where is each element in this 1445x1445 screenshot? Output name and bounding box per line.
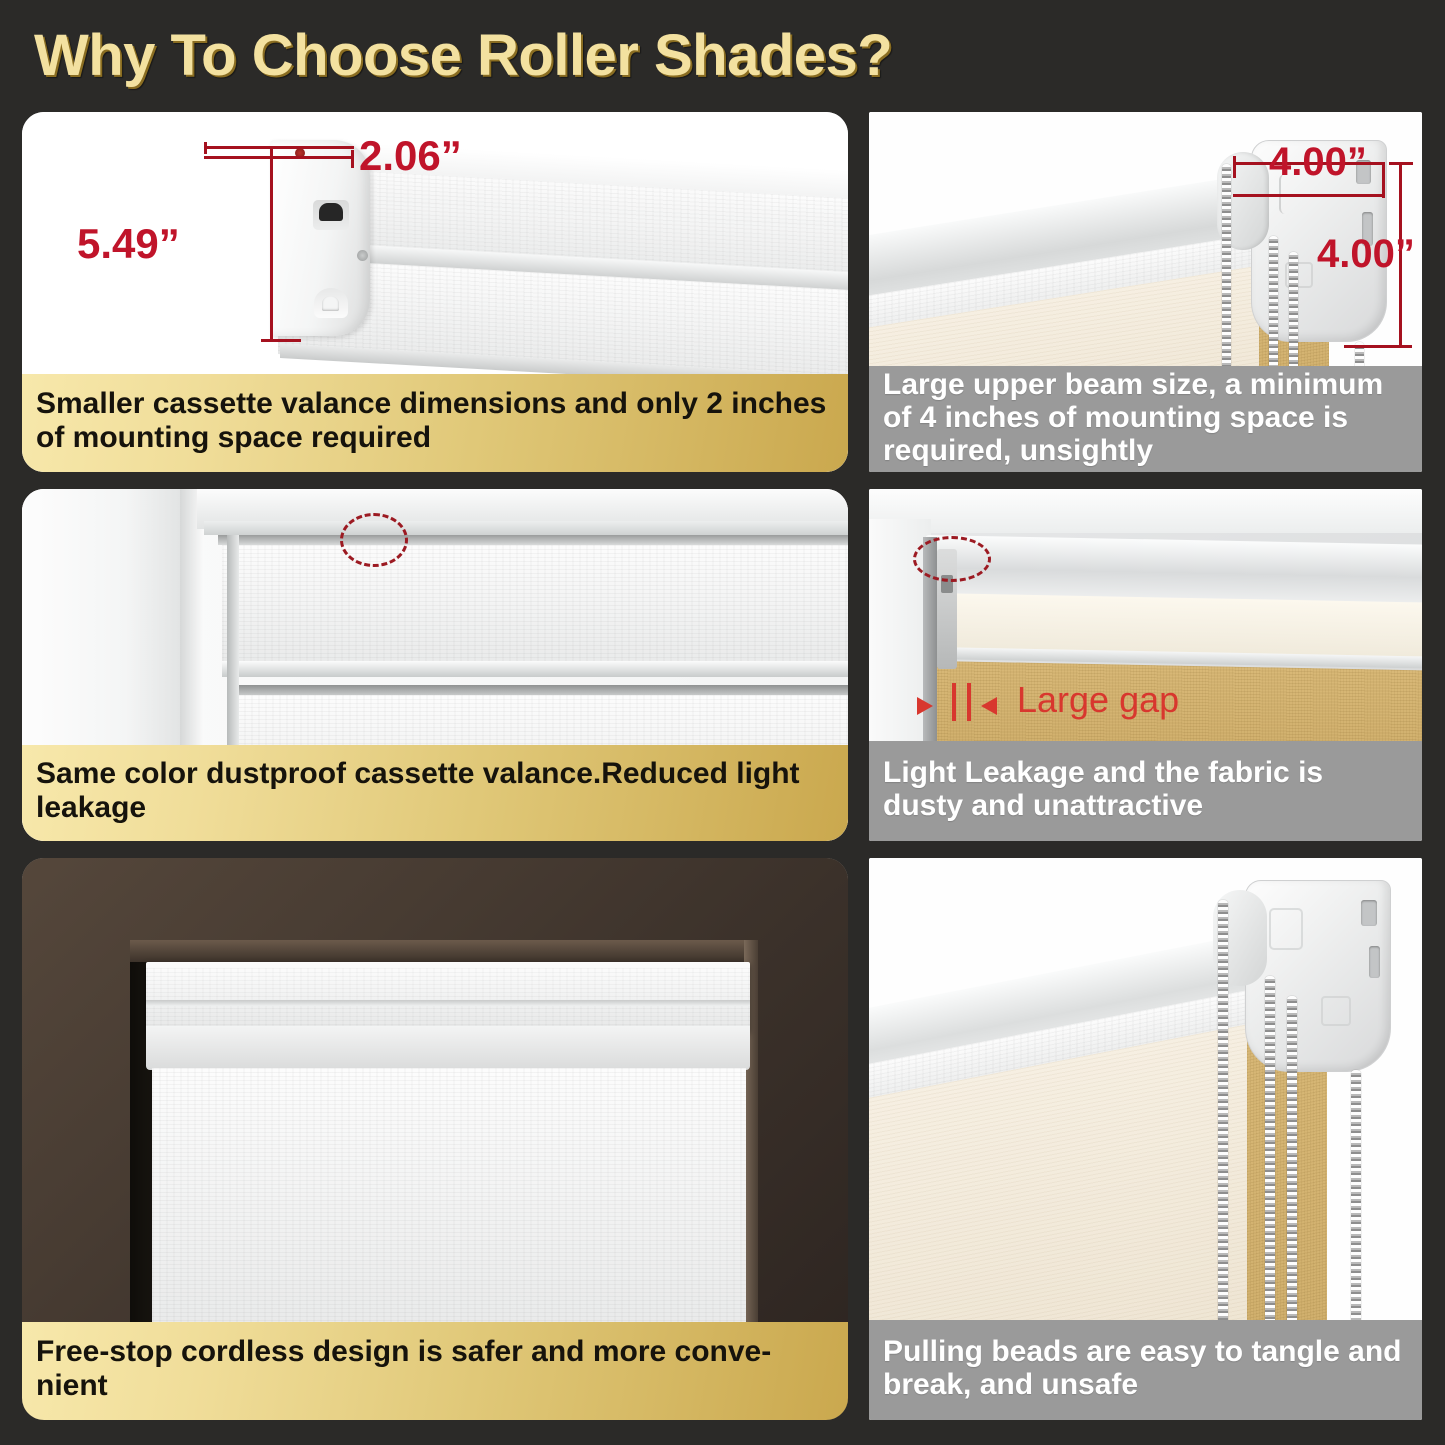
panel-1-caption: Smaller cassette valance dimensions and … [22, 374, 848, 472]
dimension-tick-top [261, 146, 289, 149]
panel-top-right: 4.00” 4.00” Large upper beam size, a min… [869, 112, 1422, 472]
dimension-label-height: 5.49” [77, 220, 180, 268]
dimension-tick-bottom2 [1344, 345, 1412, 348]
gap-tick-2a [952, 683, 956, 721]
dimension-tick-right2 [1382, 162, 1385, 198]
panel-2-caption: Large upper beam size, a minimum of 4 in… [869, 366, 1422, 472]
panel-2-caption-text: Large upper beam size, a minimum of 4 in… [883, 368, 1408, 467]
panel-4-caption-text: Light Leakage and the fabric is dusty an… [883, 756, 1408, 822]
gap-label-2: Large gap [1017, 679, 1179, 721]
dimension-tick-left2 [1233, 156, 1236, 178]
comparison-grid: 2.06” 5.49” Smaller cassette valance dim… [0, 0, 1445, 1445]
gap-tick-2b [967, 683, 971, 721]
panel-5-caption: Free-stop cordless design is safer and m… [22, 1322, 848, 1420]
panel-middle-right: Large gap Light Leakage and the fabric i… [869, 489, 1422, 841]
panel-middle-left: smaller gap Same color dustproof cassett… [22, 489, 848, 841]
highlight-circle [340, 513, 408, 567]
panel-top-left: 2.06” 5.49” Smaller cassette valance dim… [22, 112, 848, 472]
dimension-label-width: 2.06” [359, 132, 462, 180]
gap-arrow-right-2 [981, 697, 997, 715]
highlight-circle-2 [913, 536, 991, 582]
panel-3-caption: Same color dustproof cassette valance.Re… [22, 745, 848, 841]
dimension-line-top-2 [1233, 194, 1385, 197]
dimension-tick-right [351, 150, 354, 168]
panel-1-caption-text: Smaller cassette valance dimensions and … [36, 387, 834, 454]
panel-3-caption-text: Same color dustproof cassette valance.Re… [36, 757, 834, 824]
dimension-line-horizontal-2 [204, 156, 354, 159]
panel-4-caption: Light Leakage and the fabric is dusty an… [869, 741, 1422, 841]
panel-bottom-right: Pulling beads are easy to tangle and bre… [869, 858, 1422, 1420]
panel-bottom-left: Free-stop cordless design is safer and m… [22, 858, 848, 1420]
dimension-tick-left [204, 142, 207, 154]
dimension-line-vertical [270, 146, 273, 342]
panel-6-caption-text: Pulling beads are easy to tangle and bre… [883, 1335, 1408, 1401]
dimension-label-width-2: 4.00” [1269, 140, 1367, 185]
dimension-tick-bottom [261, 339, 301, 342]
dimension-tick-top2 [1389, 162, 1413, 165]
panel-5-caption-text: Free-stop cordless design is safer and m… [36, 1335, 834, 1402]
dimension-label-height-2: 4.00” [1317, 232, 1415, 277]
gap-arrow-left-2 [917, 697, 933, 715]
panel-6-caption: Pulling beads are easy to tangle and bre… [869, 1320, 1422, 1420]
